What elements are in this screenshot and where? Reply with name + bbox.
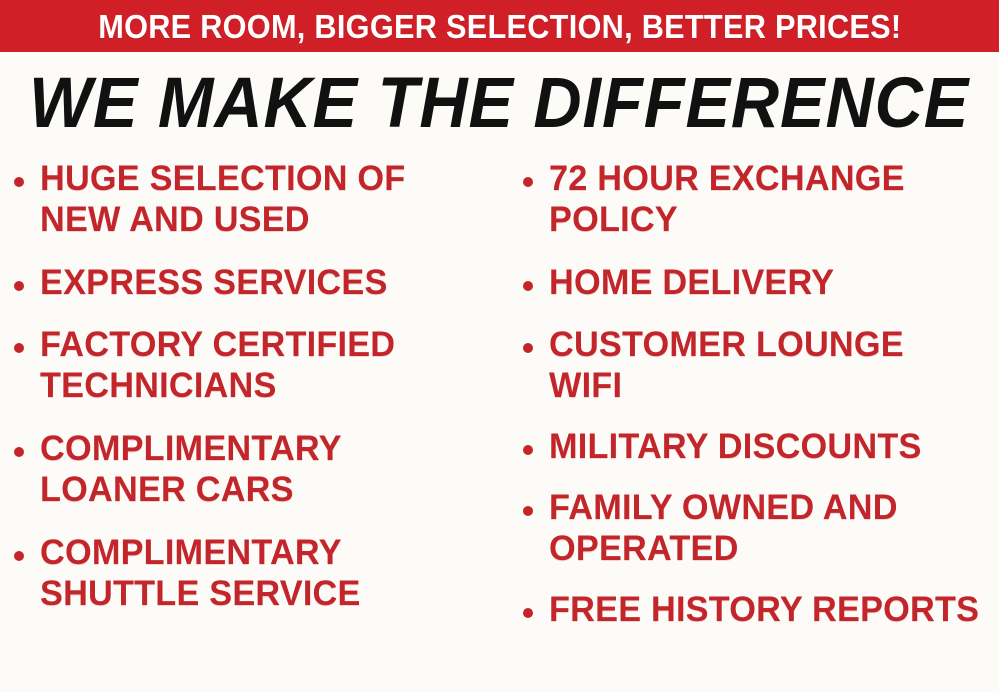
list-item: COMPLIMENTARY SHUTTLE SERVICE (14, 532, 499, 614)
list-item: MILITARY DISCOUNTS (523, 426, 995, 467)
bullet-dot-icon (14, 262, 40, 291)
bullet-dot-icon (523, 589, 549, 618)
features-column-right: 72 HOUR EXCHANGE POLICY HOME DELIVERY CU… (505, 158, 999, 650)
bullet-dot-icon (523, 426, 549, 455)
promo-poster: MORE ROOM, BIGGER SELECTION, BETTER PRIC… (0, 0, 999, 692)
feature-label: COMPLIMENTARY SHUTTLE SERVICE (40, 532, 490, 614)
bullet-dot-icon (523, 487, 549, 516)
feature-label: 72 HOUR EXCHANGE POLICY (549, 158, 986, 240)
feature-label: MILITARY DISCOUNTS (549, 426, 986, 467)
feature-label: HUGE SELECTION OF NEW AND USED (40, 158, 490, 240)
feature-label: FACTORY CERTIFIED TECHNICIANS (40, 324, 490, 406)
page-title: WE MAKE THE DIFFERENCE (29, 68, 969, 139)
list-item: COMPLIMENTARY LOANER CARS (14, 428, 499, 510)
bullet-dot-icon (14, 324, 40, 353)
features-columns: HUGE SELECTION OF NEW AND USED EXPRESS S… (0, 158, 999, 678)
feature-label: EXPRESS SERVICES (40, 262, 490, 303)
headline-container: WE MAKE THE DIFFERENCE (0, 60, 999, 146)
top-banner: MORE ROOM, BIGGER SELECTION, BETTER PRIC… (0, 0, 999, 52)
list-item: FAMILY OWNED AND OPERATED (523, 487, 995, 569)
feature-label: FAMILY OWNED AND OPERATED (549, 487, 986, 569)
bullet-dot-icon (14, 158, 40, 187)
bullet-dot-icon (523, 262, 549, 291)
bullet-dot-icon (14, 428, 40, 457)
feature-label: COMPLIMENTARY LOANER CARS (40, 428, 490, 510)
features-column-left: HUGE SELECTION OF NEW AND USED EXPRESS S… (0, 158, 505, 634)
list-item: HUGE SELECTION OF NEW AND USED (14, 158, 499, 240)
list-item: HOME DELIVERY (523, 262, 995, 303)
banner-headline-text: MORE ROOM, BIGGER SELECTION, BETTER PRIC… (98, 10, 901, 43)
feature-label: CUSTOMER LOUNGE WIFI (549, 324, 986, 406)
bullet-dot-icon (523, 158, 549, 187)
feature-label: HOME DELIVERY (549, 262, 986, 303)
list-item: FACTORY CERTIFIED TECHNICIANS (14, 324, 499, 406)
list-item: EXPRESS SERVICES (14, 262, 499, 303)
list-item: CUSTOMER LOUNGE WIFI (523, 324, 995, 406)
list-item: 72 HOUR EXCHANGE POLICY (523, 158, 995, 240)
feature-label: FREE HISTORY REPORTS (549, 589, 986, 630)
bullet-dot-icon (523, 324, 549, 353)
bullet-dot-icon (14, 532, 40, 561)
list-item: FREE HISTORY REPORTS (523, 589, 995, 630)
